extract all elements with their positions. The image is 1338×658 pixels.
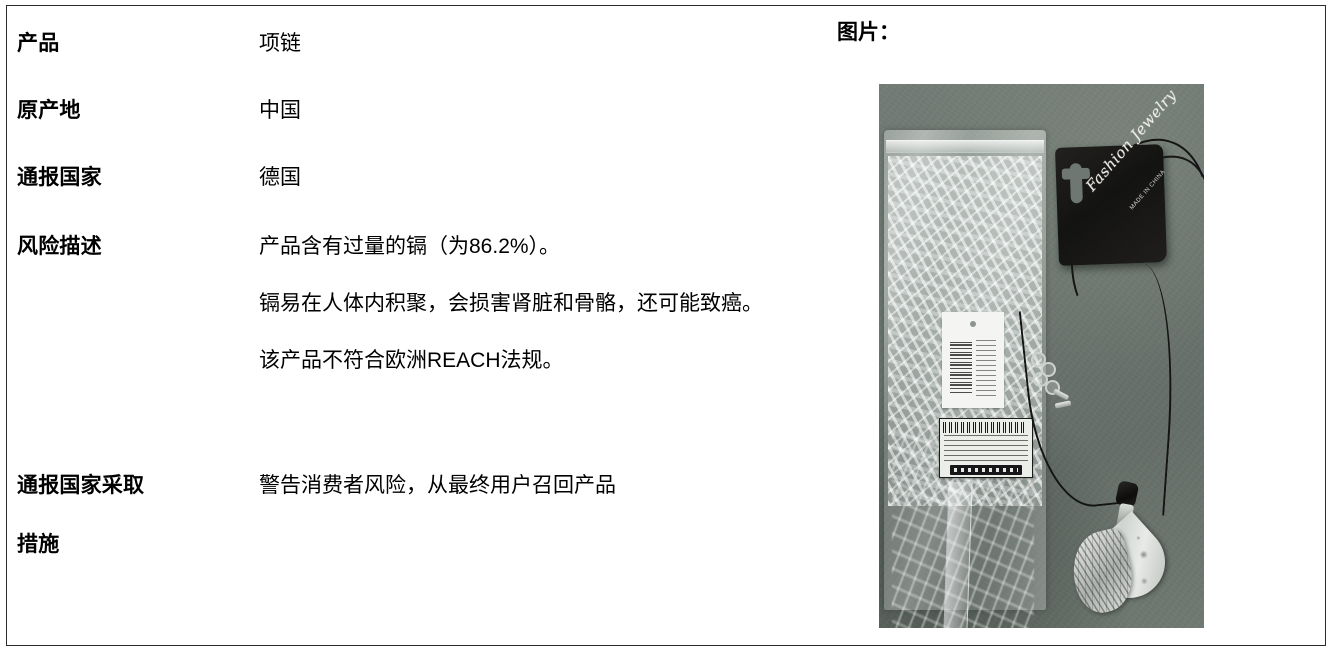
product-info-table: 产品 项链 原产地 中国 通报国家 德国 风险描述 产品 bbox=[17, 18, 837, 560]
bag-inner-strip bbox=[943, 482, 972, 628]
value-text: 项链 bbox=[259, 29, 837, 59]
row-label-measures: 通报国家采取 措施 bbox=[17, 471, 259, 560]
risk-line-3: 该产品不符合欧洲REACH法规。 bbox=[259, 346, 837, 376]
document-page: 产品 项链 原产地 中国 通报国家 德国 风险描述 产品 bbox=[6, 5, 1326, 646]
value-text: 德国 bbox=[259, 163, 837, 193]
table-row-notifying-country: 通报国家 德国 bbox=[17, 163, 837, 193]
hang-tag-hole bbox=[970, 321, 976, 327]
row-label-risk-description: 风险描述 bbox=[17, 232, 259, 262]
photo-block: 图片： bbox=[823, 18, 1323, 48]
plastic-bag bbox=[884, 130, 1046, 610]
row-value-product: 项链 bbox=[259, 29, 837, 59]
heart-wing-pendant bbox=[1067, 520, 1175, 624]
row-label-measures-line-2: 措施 bbox=[17, 530, 259, 560]
hang-tag-barcode bbox=[950, 342, 972, 394]
photo-caption: 图片： bbox=[837, 18, 1323, 48]
row-label-origin: 原产地 bbox=[17, 96, 259, 126]
row-value-origin: 中国 bbox=[259, 96, 837, 126]
label-barcode bbox=[943, 422, 1027, 433]
table-row-risk-description: 风险描述 产品含有过量的镉（为86.2%）。 镉易在人体内积聚，会损害肾脏和骨骼… bbox=[17, 232, 837, 376]
card-tag-origin-text: MADE IN CHINA bbox=[1129, 169, 1167, 211]
clasp-lobster-bar bbox=[1053, 389, 1069, 401]
table-row-origin: 原产地 中国 bbox=[17, 96, 837, 126]
necklace-clasp bbox=[1029, 352, 1075, 412]
table-row-measures: 通报国家采取 措施 警告消费者风险，从最终用户召回产品 bbox=[17, 471, 837, 560]
table-row-product: 产品 项链 bbox=[17, 29, 837, 59]
label-footer-bar bbox=[950, 465, 1022, 475]
label-text-lines bbox=[944, 435, 1028, 463]
white-hang-tag bbox=[942, 312, 1004, 408]
risk-line-2: 镉易在人体内积聚，会损害肾脏和骨骼，还可能致癌。 bbox=[259, 289, 837, 319]
row-value-measures: 警告消费者风险，从最终用户召回产品 bbox=[259, 471, 837, 501]
bag-seal-strip bbox=[886, 140, 1044, 153]
hang-tag-text-lines bbox=[976, 340, 996, 396]
row-label-notifying-country: 通报国家 bbox=[17, 163, 259, 193]
row-value-notifying-country: 德国 bbox=[259, 163, 837, 193]
fashion-jewelry-card-tag: Fashion Jewelry MADE IN CHINA bbox=[1055, 144, 1167, 266]
row-label-measures-line-1: 通报国家采取 bbox=[17, 474, 144, 497]
row-label-product: 产品 bbox=[17, 29, 259, 59]
row-value-risk-description: 产品含有过量的镉（为86.2%）。 镉易在人体内积聚，会损害肾脏和骨骼，还可能致… bbox=[259, 232, 837, 376]
value-text: 中国 bbox=[259, 96, 837, 126]
value-text: 警告消费者风险，从最终用户召回产品 bbox=[259, 471, 837, 501]
risk-line-1: 产品含有过量的镉（为86.2%）。 bbox=[259, 232, 837, 262]
page-content: 产品 项链 原产地 中国 通报国家 德国 风险描述 产品 bbox=[7, 6, 1325, 645]
product-photo: Fashion Jewelry MADE IN CHINA bbox=[879, 84, 1204, 628]
clasp-end-bar bbox=[1055, 400, 1072, 408]
card-tag-hanger-cutout bbox=[1070, 163, 1083, 203]
german-product-label bbox=[939, 418, 1033, 478]
